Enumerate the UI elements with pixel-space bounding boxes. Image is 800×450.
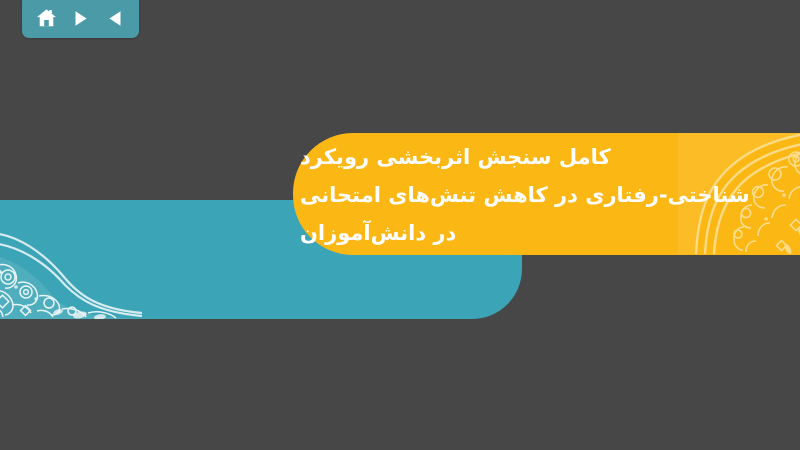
forward-icon: [71, 9, 90, 28]
slide-title: کامل سنجش اثربخشی رویکرد شناختی-رفتاری د…: [300, 133, 794, 255]
forward-button[interactable]: [68, 5, 94, 31]
title-line-2: شناختی-رفتاری در کاهش تنش‌های امتحانی: [300, 176, 750, 214]
back-button[interactable]: [102, 5, 128, 31]
home-button[interactable]: [33, 5, 59, 31]
title-line-1: کامل سنجش اثربخشی رویکرد: [300, 138, 611, 176]
back-icon: [106, 9, 125, 28]
presentation-slide: کامل سنجش اثربخشی رویکرد شناختی-رفتاری د…: [0, 0, 800, 450]
arabesque-ornament-icon: [0, 200, 142, 319]
title-line-3: در دانش‌آموزان: [300, 214, 456, 252]
navigation-bar: [22, 0, 139, 38]
home-icon: [36, 8, 57, 28]
